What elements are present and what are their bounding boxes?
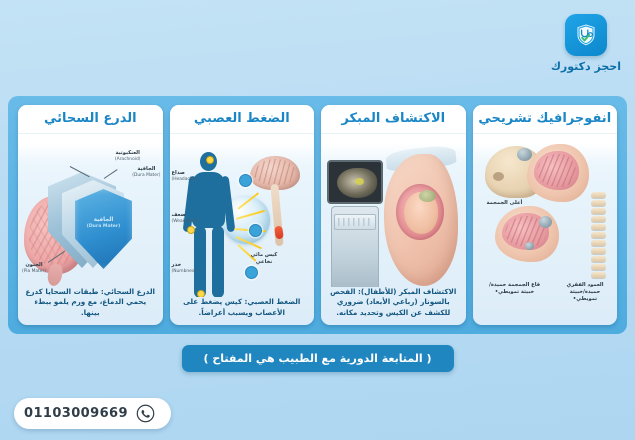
card-artwork: الجافية (Dura Mater) العنكبوتية (Arachno… [18,134,163,287]
ultrasound-finding-marker [355,178,364,185]
card-caption: الدرع السحائي: طبقات السحايا كدرع يحمي ا… [18,287,163,325]
label-numbness: خدر (Numbness) [172,262,199,274]
card-artwork: صداع (Headache) ضعف (Weakness) خدر (Numb… [170,134,315,297]
label-skull-base-ar: قاع الجمجمة حميدة/خبيثة تمويطي• [489,282,540,295]
label-dura-mater: الجافية (Dura Mater) [132,166,160,178]
card-caption: الضغط العصبي: كيس يضغط على الأعصاب ويسبب… [170,297,315,325]
key-message-banner: ( المتابعة الدورية مع الطبيب هي المفتاح … [181,345,453,372]
label-arachnoid-ar: العنكبوتية [116,150,140,156]
label-weakness: ضعف (Weakness) [172,212,198,224]
skull-tumor-marker [517,148,532,161]
leader-line-dura [104,169,118,179]
phone-number: 01103009669 [24,406,128,421]
ultrasound-keyboard [334,214,376,230]
card-title: الاكتشاف المبكر [321,105,466,134]
label-arachnoid: العنكبوتية (Arachnoid) [115,150,141,162]
card-caption: الاكتشاف المبكر (للأطفال): الفحص بالسونا… [321,287,466,325]
label-pia-mater-ar: الحنون [25,262,42,268]
symptom-dot-numbness [197,290,205,297]
label-spine: العمود الفقري حميدة/خبيثة تمويطي• [559,282,611,303]
label-skull-top-ar: أعلى الجمجمة [487,200,523,206]
nerve-node-icon [245,266,258,279]
label-dura-mater-ar: الجافية [137,166,155,172]
label-skull-top: أعلى الجمجمة [487,200,523,207]
symptom-dot-weakness [187,226,195,234]
cyst-marker [419,190,436,202]
label-numbness-en: (Numbness) [172,269,199,275]
card-title: الدرع السحائي [18,105,163,134]
nerve-node-icon [239,174,252,187]
card-meningeal-shield[interactable]: الدرع السحائي الجافية (Dura Mater) [18,105,163,325]
brand-name: احجز دكتورك [551,60,621,73]
label-skull-base: قاع الجمجمة حميدة/خبيثة تمويطي• [489,282,541,296]
header: احجز دكتورك [0,0,635,96]
card-anatomical-infographic[interactable]: انفوجرافيك تشريحي أعلى الجمجمة [473,105,618,325]
head-sagittal-illustration [527,144,589,202]
inner-shield-label-ar: الجافية [94,217,114,223]
card-artwork [321,134,466,287]
skull-base-tumor-marker [525,242,534,250]
label-pia-mater-en: (Pia Mater) [22,269,46,275]
inner-shield-label: الجافية (Dura Mater) [75,217,132,230]
label-headache: صداع (Headache) [172,170,198,182]
nerve-node-icon [249,224,262,237]
compression-point-marker [274,226,284,240]
label-dura-mater-en: (Dura Mater) [132,173,160,179]
label-weakness-en: (Weakness) [172,219,198,225]
label-headache-ar: صداع [172,170,185,176]
card-artwork: أعلى الجمجمة [473,134,618,318]
label-arachnoid-en: (Arachnoid) [115,157,141,163]
label-numbness-ar: خدر [172,262,182,268]
card-caption [473,318,618,325]
skull-base-tumor-marker [539,216,552,228]
infographic-root: احجز دكتورك الدرع السحائي الجافية (Dura … [0,0,635,440]
whatsapp-icon [136,404,155,423]
symptom-dot-headache [206,156,214,164]
card-title: انفوجرافيك تشريحي [473,105,618,134]
ultrasound-machine-illustration [327,160,383,287]
brain-cortex [534,151,579,190]
card-title: الضغط العصبي [170,105,315,134]
cards-row: الدرع السحائي الجافية (Dura Mater) [8,96,627,334]
brand-logo-icon [565,14,607,56]
label-spinal-cyst: كيس مائي نخاعي [244,252,284,265]
brand[interactable]: احجز دكتورك [551,14,621,73]
silhouette-leg-right [212,226,224,297]
spine-illustration [591,192,607,284]
ultrasound-screen [327,160,383,204]
label-spinal-cyst-ar: كيس مائي نخاعي [251,252,278,265]
label-weakness-ar: ضعف [172,212,186,218]
label-headache-en: (Headache) [172,177,198,183]
skull-base-brain-illustration [495,206,559,262]
inner-shield-label-en: (Dura Mater) [75,224,132,230]
card-early-detection[interactable]: الاكتشاف المبكر الاكتشاف المب [321,105,466,325]
cards-panel: الدرع السحائي الجافية (Dura Mater) [8,96,627,334]
label-pia-mater: الحنون (Pia Mater) [22,262,46,274]
label-spine-ar: العمود الفقري حميدة/خبيثة تمويطي• [566,282,603,302]
card-nerve-pressure[interactable]: الضغط العصبي [170,105,315,325]
whatsapp-contact-button[interactable]: 01103009669 [14,398,171,429]
